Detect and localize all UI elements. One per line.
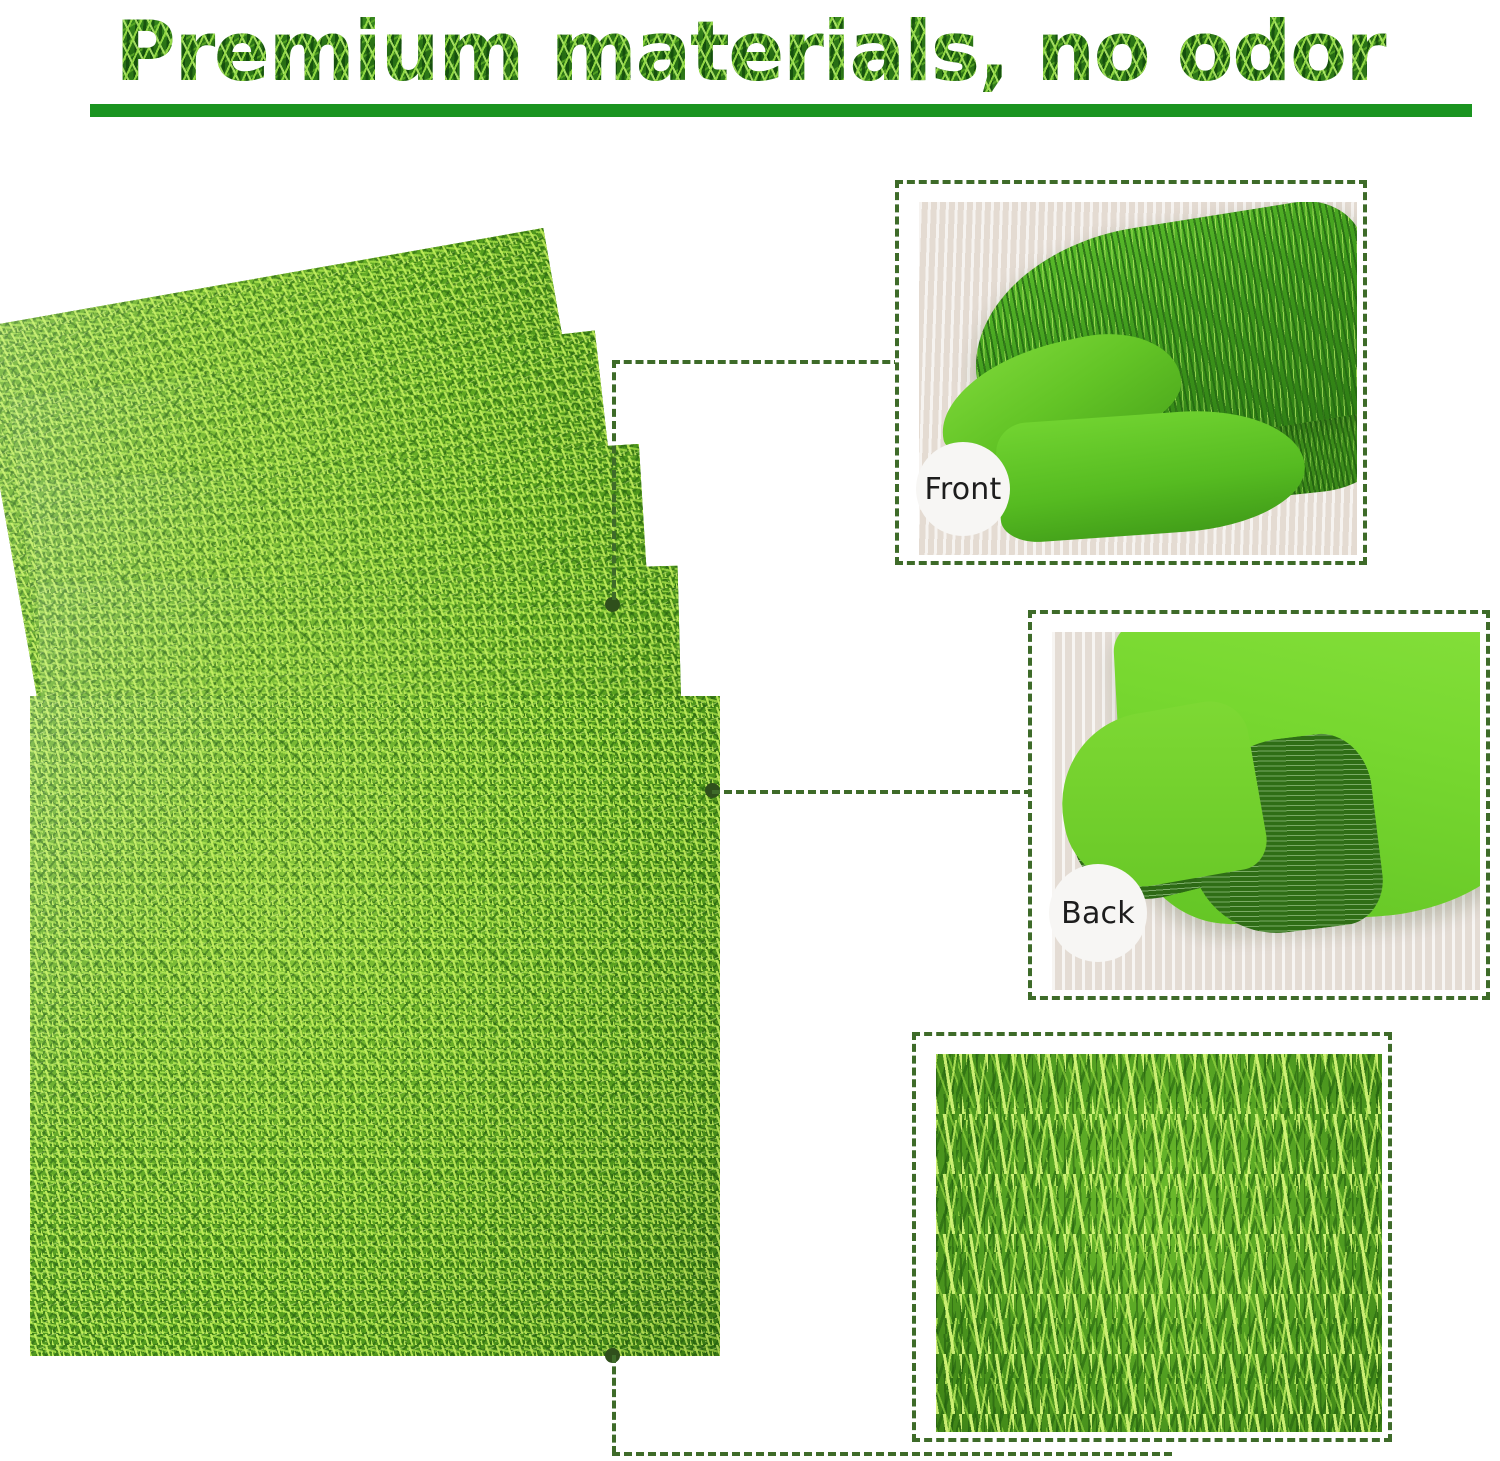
- callout-panel-closeup: [912, 1032, 1392, 1442]
- connector-line-front-horizontal: [612, 360, 902, 364]
- headline-underline-rule: [90, 104, 1472, 117]
- page-title: Premium materials, no odor: [40, 2, 1460, 102]
- connector-line-back-horizontal: [712, 790, 1032, 794]
- connector-line-front-vertical: [612, 360, 616, 600]
- connector-line-closeup-horizontal: [612, 1452, 1172, 1456]
- mat-sheen-overlay: [30, 696, 720, 1356]
- product-infographic: Premium materials, no odor Front: [0, 0, 1500, 1461]
- headline-banner: Premium materials, no odor: [0, 0, 1500, 132]
- product-mat-stack: [0, 244, 760, 1364]
- badge-front: Front: [916, 442, 1010, 536]
- grass-mat-sheet: [30, 696, 720, 1356]
- connector-line-closeup-vertical: [612, 1355, 616, 1454]
- turf-fold-lower: [994, 403, 1308, 544]
- badge-back: Back: [1049, 864, 1147, 962]
- callout-panel-back: Back: [1028, 610, 1490, 1000]
- callout-panel-front: Front: [895, 180, 1367, 565]
- photo-grass-closeup: [936, 1054, 1382, 1432]
